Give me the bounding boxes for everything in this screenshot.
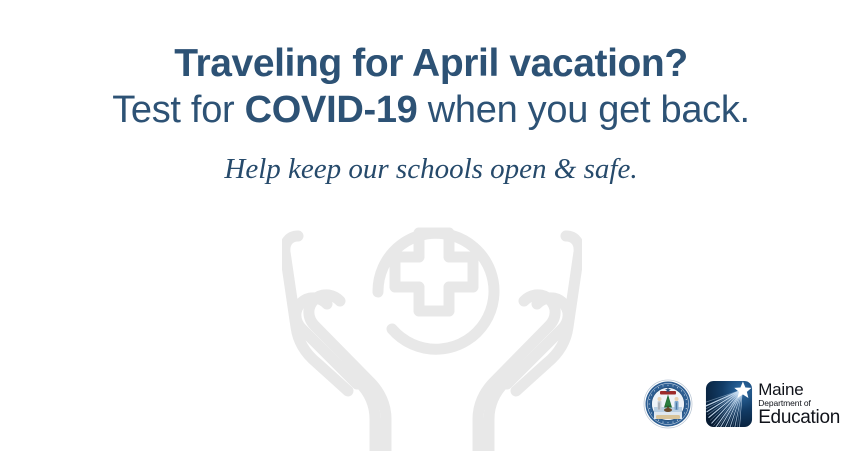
subheadline: Test for COVID-19 when you get back. <box>0 86 862 132</box>
doe-line-education: Education <box>758 408 840 427</box>
maine-doe-logo: Maine Department of Education <box>705 380 840 428</box>
hands-holding-medical-cross-icon <box>282 196 582 451</box>
subheadline-prefix: Test for <box>112 89 244 131</box>
doe-line-department: Department of <box>758 399 840 408</box>
subheadline-suffix: when you get back. <box>418 89 750 131</box>
subheadline-emphasis: COVID-19 <box>245 89 418 131</box>
page-title: Traveling for April vacation? <box>0 0 862 86</box>
poster-canvas: Traveling for April vacation? Test for C… <box>0 0 862 451</box>
maine-state-seal-icon <box>643 379 693 429</box>
maine-doe-starburst-icon <box>705 380 753 428</box>
maine-doe-wordmark: Maine Department of Education <box>758 381 840 428</box>
tagline: Help keep our schools open & safe. <box>0 131 862 186</box>
message-block: Traveling for April vacation? Test for C… <box>0 0 862 187</box>
doe-line-maine: Maine <box>758 381 840 398</box>
logo-group: Maine Department of Education <box>643 379 840 429</box>
